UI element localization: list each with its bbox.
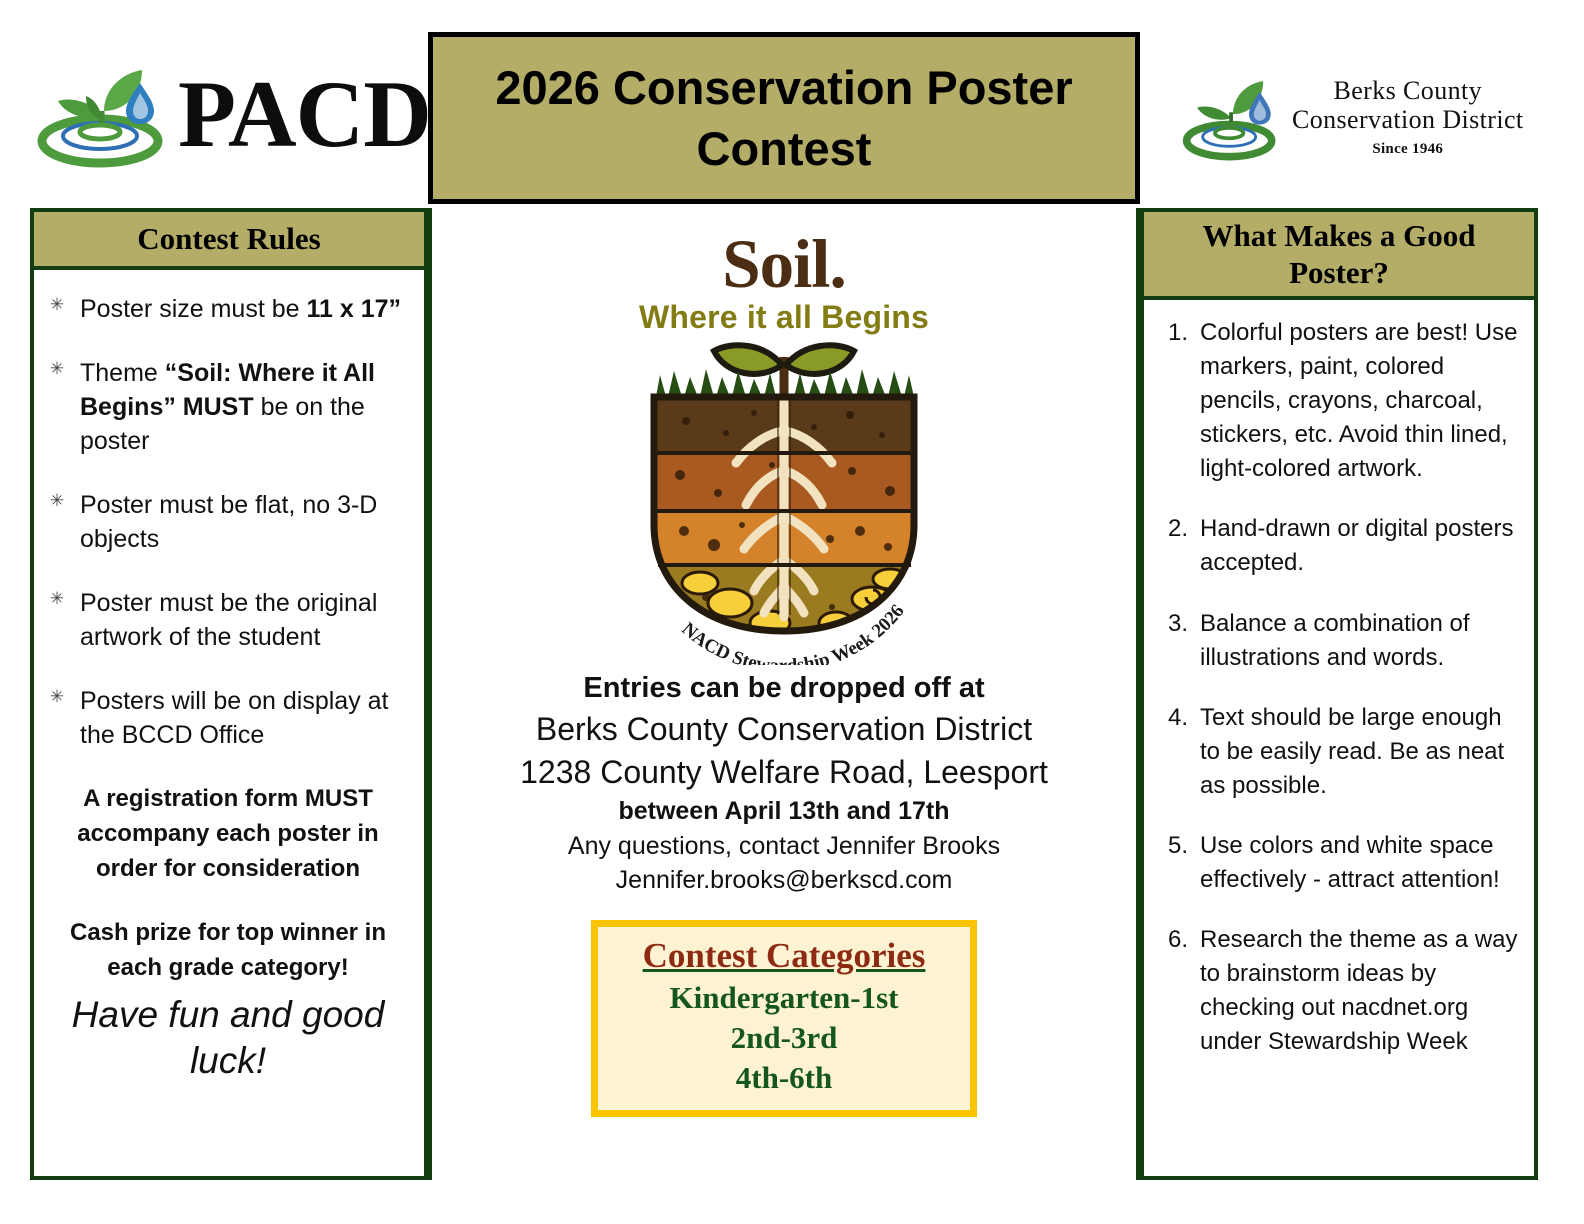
good-poster-heading: What Makes a Good Poster? xyxy=(1144,212,1534,300)
tip-number: 6. xyxy=(1158,923,1188,1059)
category-item: 2nd-3rd xyxy=(608,1019,960,1057)
soil-cross-section-illustration: NACD Stewardship Week 2026 xyxy=(614,335,954,665)
soil-tagline: Where it all Begins xyxy=(569,301,999,333)
soil-where-it-all-begins-logo: Soil. Where it all Begins xyxy=(569,230,999,333)
asterisk-bullet-icon: ✳ xyxy=(48,684,66,752)
asterisk-bullet-icon: ✳ xyxy=(48,586,66,654)
tip-number: 2. xyxy=(1158,512,1188,580)
rule-text: Posters will be on display at the BCCD O… xyxy=(80,684,408,752)
rule-text: Theme “Soil: Where it All Begins” MUST b… xyxy=(80,356,408,458)
tip-number: 1. xyxy=(1158,316,1188,486)
asterisk-bullet-icon: ✳ xyxy=(48,292,66,326)
asterisk-bullet-icon: ✳ xyxy=(48,488,66,556)
list-item: 6. Research the theme as a way to brains… xyxy=(1158,923,1522,1059)
list-item: 5. Use colors and white space effectivel… xyxy=(1158,829,1522,897)
dropoff-address: 1238 County Welfare Road, Leesport xyxy=(452,751,1116,794)
dropoff-heading: Entries can be dropped off at xyxy=(452,669,1116,708)
contact-email: Jennifer.brooks@berkscd.com xyxy=(452,863,1116,898)
header-row: PACD 2026 Conservation Poster Contest Be… xyxy=(0,0,1584,205)
contest-rules-panel: Contest Rules ✳ Poster size must be 11 x… xyxy=(30,208,428,1180)
rule-text: Poster size must be 11 x 17” xyxy=(80,292,408,326)
asterisk-bullet-icon: ✳ xyxy=(48,356,66,458)
good-poster-tips-panel: What Makes a Good Poster? 1. Colorful po… xyxy=(1140,208,1538,1180)
list-item: 4. Text should be large enough to be eas… xyxy=(1158,701,1522,803)
bccd-line-2: Conservation District xyxy=(1292,105,1524,134)
pacd-plant-water-icon xyxy=(30,53,180,173)
dropoff-info: Entries can be dropped off at Berks Coun… xyxy=(452,669,1116,898)
good-luck-note: Have fun and good luck! xyxy=(62,992,394,1085)
dropoff-dates: between April 13th and 17th xyxy=(452,794,1116,829)
contact-line: Any questions, contact Jennifer Brooks xyxy=(452,829,1116,864)
contest-categories-box: Contest Categories Kindergarten-1st 2nd-… xyxy=(591,920,977,1117)
bccd-since-label: Since 1946 xyxy=(1372,141,1443,158)
pacd-logo: PACD xyxy=(30,40,422,185)
tip-number: 3. xyxy=(1158,607,1188,675)
list-item: 2. Hand-drawn or digital posters accepte… xyxy=(1158,512,1522,580)
tip-number: 5. xyxy=(1158,829,1188,897)
contest-rules-list: ✳ Poster size must be 11 x 17” ✳ Theme “… xyxy=(34,270,424,1084)
tip-text: Text should be large enough to be easily… xyxy=(1200,701,1522,803)
list-item: ✳ Poster size must be 11 x 17” xyxy=(48,292,408,326)
list-item: ✳ Theme “Soil: Where it All Begins” MUST… xyxy=(48,356,408,458)
registration-note: A registration form MUST accompany each … xyxy=(60,782,396,886)
tip-text: Balance a combination of illustrations a… xyxy=(1200,607,1522,675)
berks-county-conservation-district-logo: Berks County Conservation District Since… xyxy=(1180,52,1560,182)
dropoff-organization: Berks County Conservation District xyxy=(452,708,1116,751)
bccd-wordmark: Berks County Conservation District Since… xyxy=(1292,76,1524,158)
tip-text: Colorful posters are best! Use markers, … xyxy=(1200,316,1522,486)
good-poster-tips-list: 1. Colorful posters are best! Use marker… xyxy=(1144,300,1534,1059)
list-item: 3. Balance a combination of illustration… xyxy=(1158,607,1522,675)
tip-text: Use colors and white space effectively -… xyxy=(1200,829,1522,897)
rule-text: Poster must be flat, no 3-D objects xyxy=(80,488,408,556)
poster-title-box: 2026 Conservation Poster Contest xyxy=(428,32,1140,204)
page-title: 2026 Conservation Poster Contest xyxy=(482,57,1086,179)
list-item: ✳ Posters will be on display at the BCCD… xyxy=(48,684,408,752)
poster-flyer: PACD 2026 Conservation Poster Contest Be… xyxy=(0,0,1584,1224)
category-item: 4th-6th xyxy=(608,1059,960,1097)
soil-wordmark: Soil. xyxy=(569,230,999,299)
list-item: 1. Colorful posters are best! Use marker… xyxy=(1158,316,1522,486)
bccd-plant-water-icon xyxy=(1180,65,1284,169)
rule-text: Poster must be the original artwork of t… xyxy=(80,586,408,654)
contest-categories-title: Contest Categories xyxy=(608,935,960,977)
pacd-wordmark: PACD xyxy=(178,67,431,162)
cash-prize-note: Cash prize for top winner in each grade … xyxy=(64,916,392,986)
list-item: ✳ Poster must be flat, no 3-D objects xyxy=(48,488,408,556)
list-item: ✳ Poster must be the original artwork of… xyxy=(48,586,408,654)
tip-number: 4. xyxy=(1158,701,1188,803)
tip-text: Research the theme as a way to brainstor… xyxy=(1200,923,1522,1059)
tip-text: Hand-drawn or digital posters accepted. xyxy=(1200,512,1522,580)
bccd-line-1: Berks County xyxy=(1334,76,1483,105)
center-column: Soil. Where it all Begins xyxy=(428,208,1140,1180)
category-item: Kindergarten-1st xyxy=(608,979,960,1017)
contest-rules-heading: Contest Rules xyxy=(34,212,424,270)
